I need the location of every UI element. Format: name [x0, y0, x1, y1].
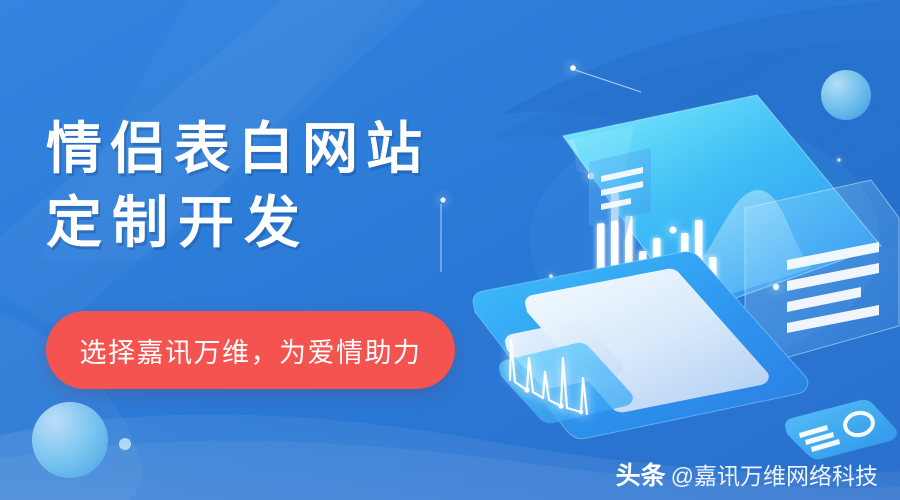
cta-button-label: 选择嘉讯万维，为爱情助力 [80, 331, 422, 370]
headline-block: 情侣表白网站 定制开发 [46, 112, 516, 260]
watermark: 头条 @嘉讯万维网络科技 [616, 456, 878, 492]
decor-circle-bottom-left [32, 402, 108, 478]
watermark-brand: 头条 [616, 456, 666, 492]
cta-button[interactable]: 选择嘉讯万维，为爱情助力 [46, 311, 455, 389]
decor-dot-small [119, 438, 131, 450]
headline-line-1: 情侣表白网站 [46, 112, 516, 186]
promo-banner: 情侣表白网站 定制开发 选择嘉讯万维，为爱情助力 头条 @嘉讯万维网络科技 [0, 0, 900, 500]
document-card [745, 180, 899, 358]
watermark-handle: @嘉讯万维网络科技 [671, 457, 878, 491]
headline-line-2: 定制开发 [46, 186, 516, 260]
isometric-laptop-illustration [455, 40, 900, 460]
donut-chart-card [785, 400, 897, 460]
